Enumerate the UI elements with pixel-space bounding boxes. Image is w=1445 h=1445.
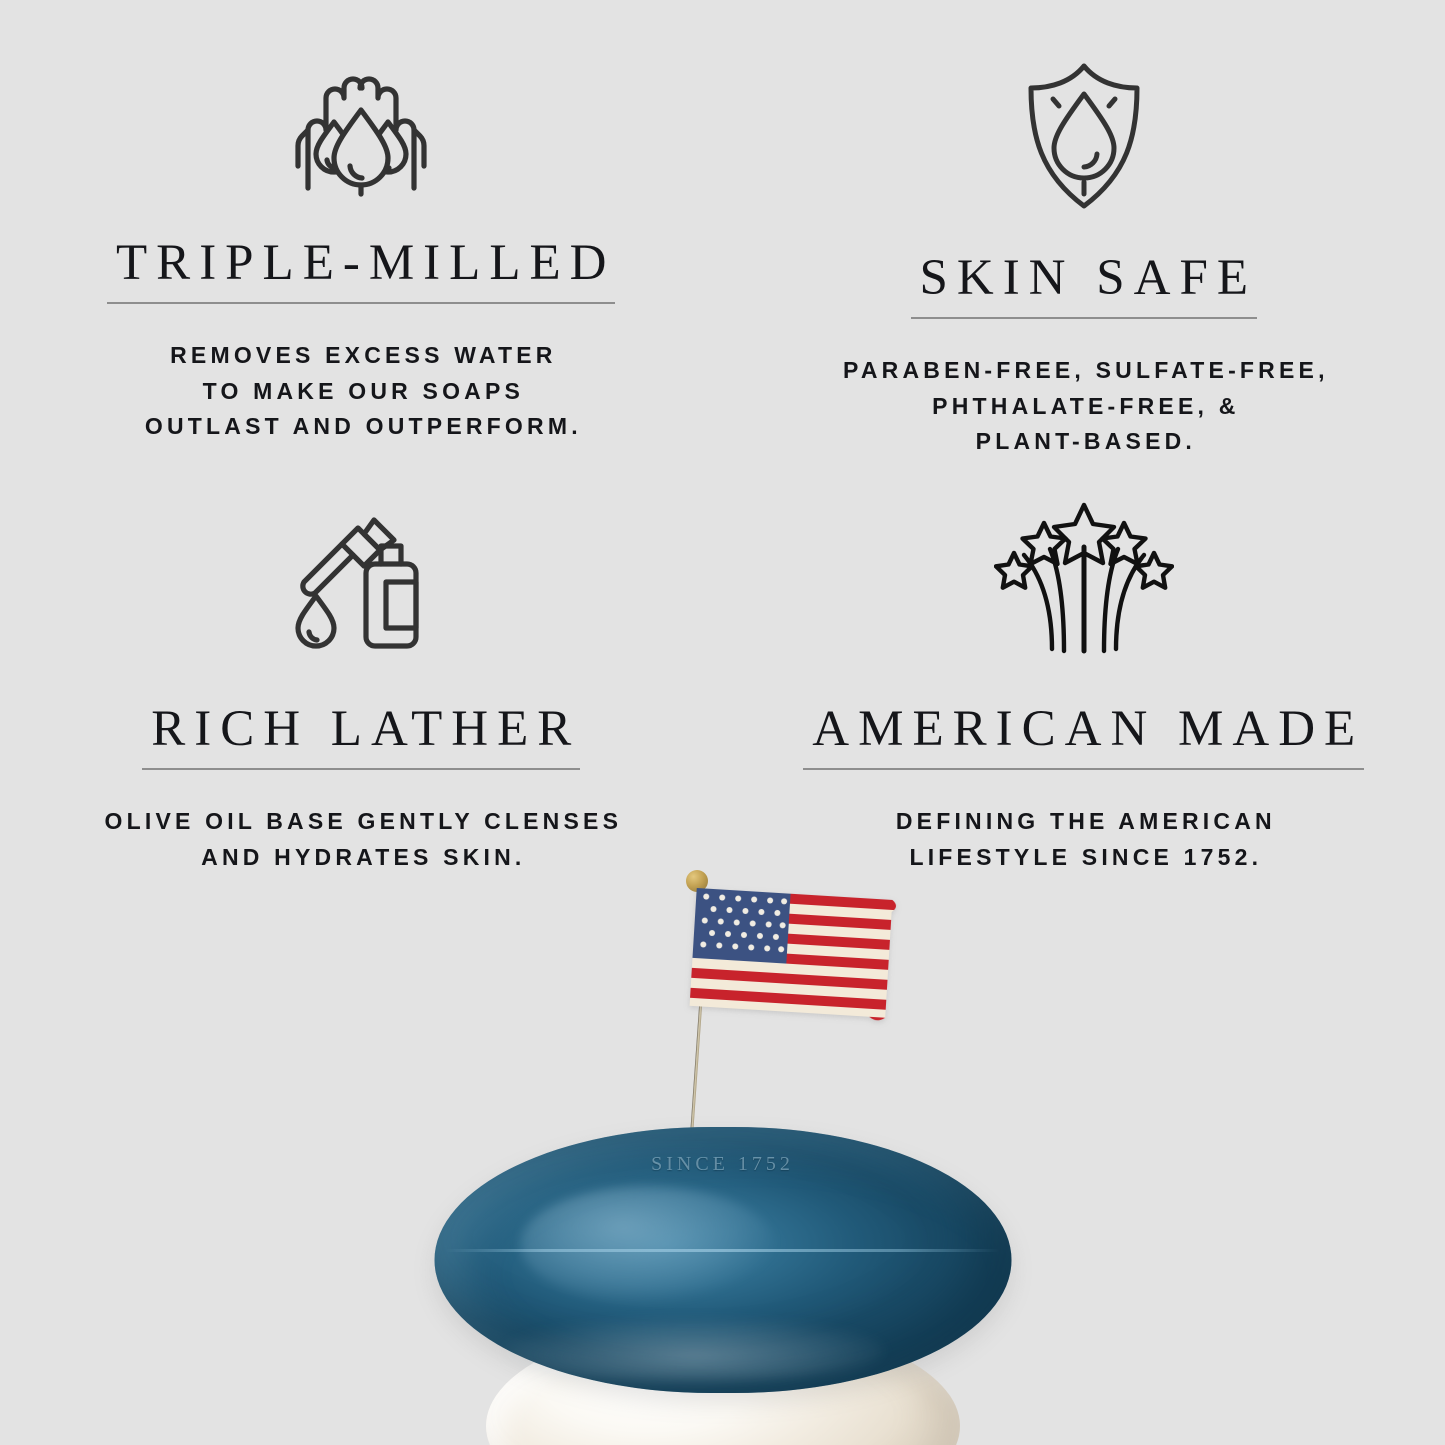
shield-water-drop-icon (1019, 0, 1149, 215)
blue-soap-lowlight (503, 1319, 884, 1383)
feature-heading: AMERICAN MADE (803, 704, 1364, 755)
feature-skin-safe: SKIN SAFE PARABEN-FREE, SULFATE-FREE, PH… (723, 0, 1445, 440)
feature-triple-milled: TRIPLE-MILLED REMOVES EXCESS WATER TO MA… (0, 0, 723, 440)
blue-soap-emboss: SINCE 1752 (434, 1153, 1011, 1176)
feature-american-made: AMERICAN MADE DEFINING THE AMERICAN LIFE… (723, 440, 1445, 880)
feature-rich-lather: RICH LATHER OLIVE OIL BASE GENTLY CLENSE… (0, 440, 723, 880)
dropper-bottle-icon (286, 440, 436, 656)
body-line: OLIVE OIL BASE GENTLY CLENSES (100, 804, 622, 840)
feature-body: REMOVES EXCESS WATER TO MAKE OUR SOAPS O… (141, 338, 582, 445)
flag-cloth (688, 884, 906, 1037)
blue-soap-bar: SINCE 1752 (434, 1127, 1011, 1393)
feature-grid: TRIPLE-MILLED REMOVES EXCESS WATER TO MA… (0, 0, 1445, 880)
heading-underline-wrap: AMERICAN MADE (803, 704, 1364, 770)
body-line: REMOVES EXCESS WATER (141, 338, 582, 374)
fireworks-stars-icon (994, 440, 1174, 656)
body-line: PARABEN-FREE, SULFATE-FREE, (839, 353, 1329, 389)
product-photo: SINCE 1752 SINCE 1752 (0, 860, 1445, 1445)
feature-heading: TRIPLE-MILLED (107, 238, 615, 289)
heading-underline-wrap: SKIN SAFE (911, 253, 1257, 319)
body-line: PHTHALATE-FREE, & (839, 389, 1329, 425)
body-line: DEFINING THE AMERICAN (892, 804, 1276, 840)
heading-underline-wrap: TRIPLE-MILLED (107, 238, 615, 304)
blue-soap-highlight (521, 1186, 775, 1303)
feature-heading: SKIN SAFE (911, 253, 1257, 304)
hands-water-drops-icon (286, 0, 436, 200)
heading-underline-wrap: RICH LATHER (142, 704, 580, 770)
feature-heading: RICH LATHER (142, 704, 580, 755)
blue-soap-seam (446, 1249, 1000, 1252)
body-line: TO MAKE OUR SOAPS (141, 374, 582, 410)
product-infographic: TRIPLE-MILLED REMOVES EXCESS WATER TO MA… (0, 0, 1445, 1445)
